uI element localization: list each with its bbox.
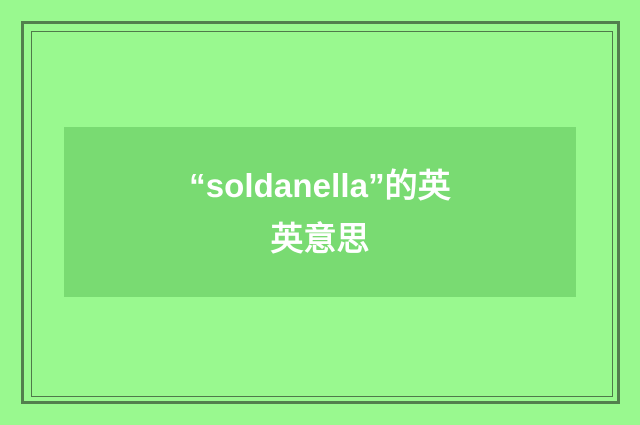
caption-title: “soldanella”的英英意思 bbox=[175, 159, 465, 266]
caption-plate: “soldanella”的英英意思 bbox=[64, 127, 576, 297]
poster-canvas: “soldanella”的英英意思 bbox=[0, 0, 640, 425]
